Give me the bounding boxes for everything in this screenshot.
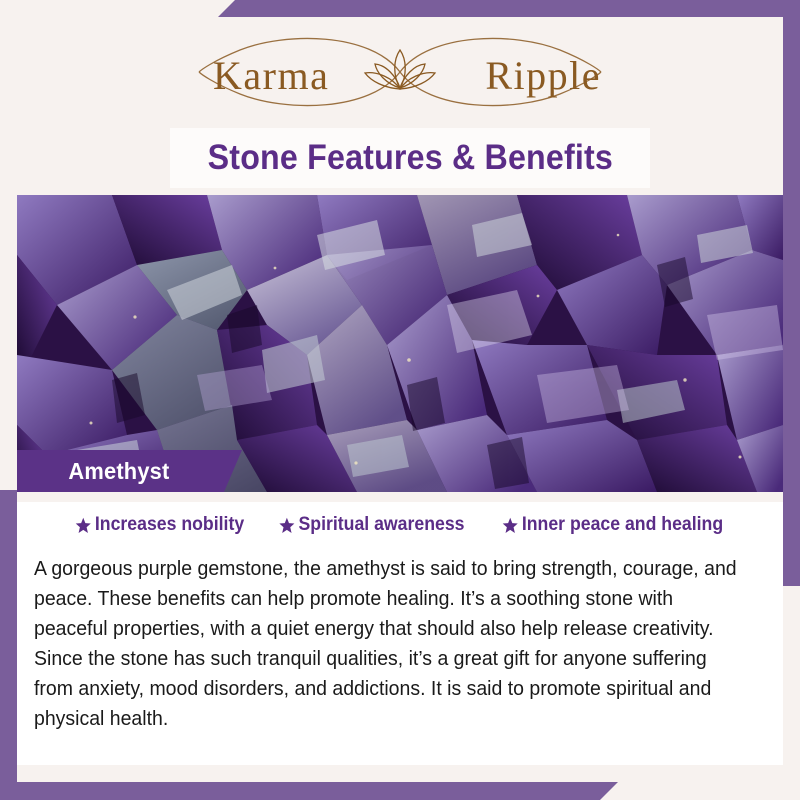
frame-band-left [0, 490, 17, 800]
star-icon [75, 517, 91, 534]
benefit-label: Spiritual awareness [299, 514, 465, 536]
brand-logo: Karma Ripple [0, 17, 800, 127]
benefit-item: Spiritual awareness [279, 514, 465, 536]
frame-band-top [218, 0, 800, 17]
star-icon [502, 517, 518, 534]
description-panel: Increases nobility Spiritual awareness I… [17, 492, 783, 765]
frame-band-bottom [0, 782, 618, 800]
brand-name-right: Ripple [485, 52, 601, 99]
star-icon [279, 517, 295, 534]
benefits-list: Increases nobility Spiritual awareness I… [17, 514, 783, 536]
stone-name-label: Amethyst [21, 458, 170, 485]
benefit-item: Increases nobility [75, 514, 244, 536]
page-title: Stone Features & Benefits [207, 138, 612, 178]
stone-description: A gorgeous purple gemstone, the amethyst… [34, 554, 737, 734]
amethyst-photo [17, 195, 783, 492]
amethyst-crystal-illustration [17, 195, 783, 492]
title-panel: Stone Features & Benefits [170, 128, 650, 188]
infographic-card: Karma Ripple Stone Features & Benefits [0, 0, 800, 800]
brand-name-left: Karma [213, 52, 329, 99]
benefit-item: Inner peace and healing [502, 514, 723, 536]
stone-name-banner: Amethyst [17, 450, 242, 492]
benefit-label: Increases nobility [95, 514, 244, 536]
benefit-label: Inner peace and healing [522, 514, 723, 536]
